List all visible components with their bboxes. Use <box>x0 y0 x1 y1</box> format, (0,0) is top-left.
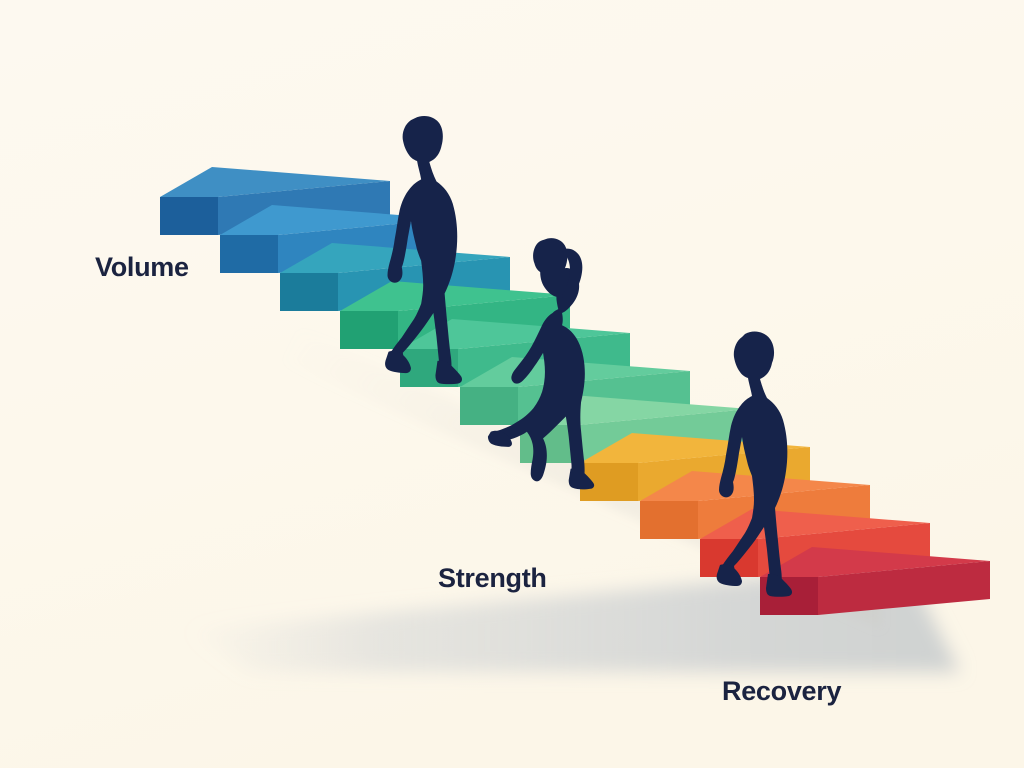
phase-label-strength: Strength <box>438 563 547 593</box>
phase-label-recovery: Recovery <box>722 676 841 706</box>
step-front-face <box>640 501 698 539</box>
step-front-face <box>160 197 218 235</box>
step-front-face <box>460 387 518 425</box>
step-front-face <box>280 273 338 311</box>
step-front-face <box>220 235 278 273</box>
phase-label-volume: Volume <box>95 252 189 282</box>
step-front-face <box>340 311 398 349</box>
illustration-canvas: VolumeStrengthRecovery <box>0 0 1024 768</box>
staircase-scene: VolumeStrengthRecovery <box>0 0 1024 768</box>
